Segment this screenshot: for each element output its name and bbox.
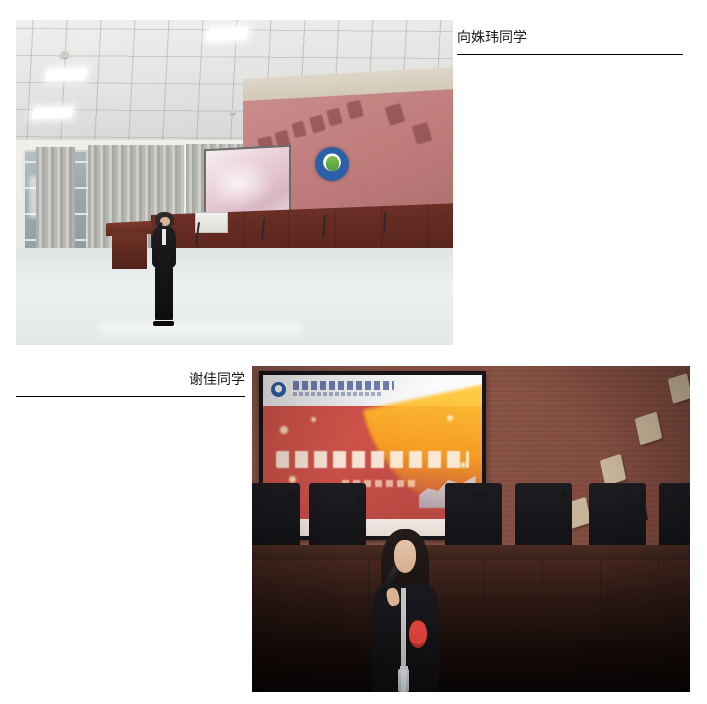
caption-text: 谢佳同学 bbox=[16, 370, 245, 390]
panel-light-icon bbox=[45, 68, 87, 80]
caption-underline bbox=[457, 54, 683, 55]
chair bbox=[589, 483, 646, 548]
speaker-shirt bbox=[162, 229, 166, 245]
dais-desk-front bbox=[252, 607, 690, 692]
floor bbox=[16, 248, 453, 346]
sparkle-icon bbox=[447, 415, 453, 421]
figure-one-photo bbox=[16, 20, 453, 345]
figure-two-caption: 谢佳同学 bbox=[16, 370, 245, 397]
slide-school-name bbox=[293, 381, 394, 390]
podium bbox=[112, 233, 147, 269]
panel-light-icon bbox=[32, 107, 74, 118]
auditorium-scene bbox=[16, 20, 453, 345]
figure-one-caption: 向姝玮同学 bbox=[457, 28, 683, 55]
school-logo-icon bbox=[271, 382, 286, 397]
speaker-shoes bbox=[153, 321, 175, 326]
school-emblem-icon bbox=[315, 147, 349, 181]
student-speaker-figure bbox=[370, 529, 440, 692]
water-bottle-cap bbox=[400, 666, 408, 671]
caption-underline bbox=[16, 396, 245, 397]
panel-light-icon bbox=[207, 27, 249, 40]
speaker-legs bbox=[155, 265, 173, 320]
stage-scene bbox=[252, 366, 690, 692]
chair bbox=[445, 483, 502, 548]
chair bbox=[309, 483, 366, 548]
slide-title-text bbox=[276, 451, 469, 468]
calligraphy-glyph bbox=[668, 373, 690, 404]
slide-school-name-en bbox=[293, 392, 381, 396]
caption-text: 向姝玮同学 bbox=[457, 28, 683, 48]
water-bottle bbox=[398, 669, 409, 692]
figure-two-photo bbox=[252, 366, 690, 692]
speaker-figure bbox=[147, 212, 182, 326]
dais-desk bbox=[252, 560, 690, 612]
sparkle-icon bbox=[311, 417, 316, 422]
sparkle-icon bbox=[280, 426, 288, 434]
chair bbox=[659, 483, 690, 548]
smoke-detector-icon bbox=[60, 51, 69, 58]
screen-glow bbox=[216, 162, 274, 209]
air-conditioner bbox=[195, 212, 228, 234]
jacket-badge-icon bbox=[409, 620, 427, 648]
sparkle-icon bbox=[289, 476, 296, 483]
floor-reflection bbox=[98, 322, 303, 345]
